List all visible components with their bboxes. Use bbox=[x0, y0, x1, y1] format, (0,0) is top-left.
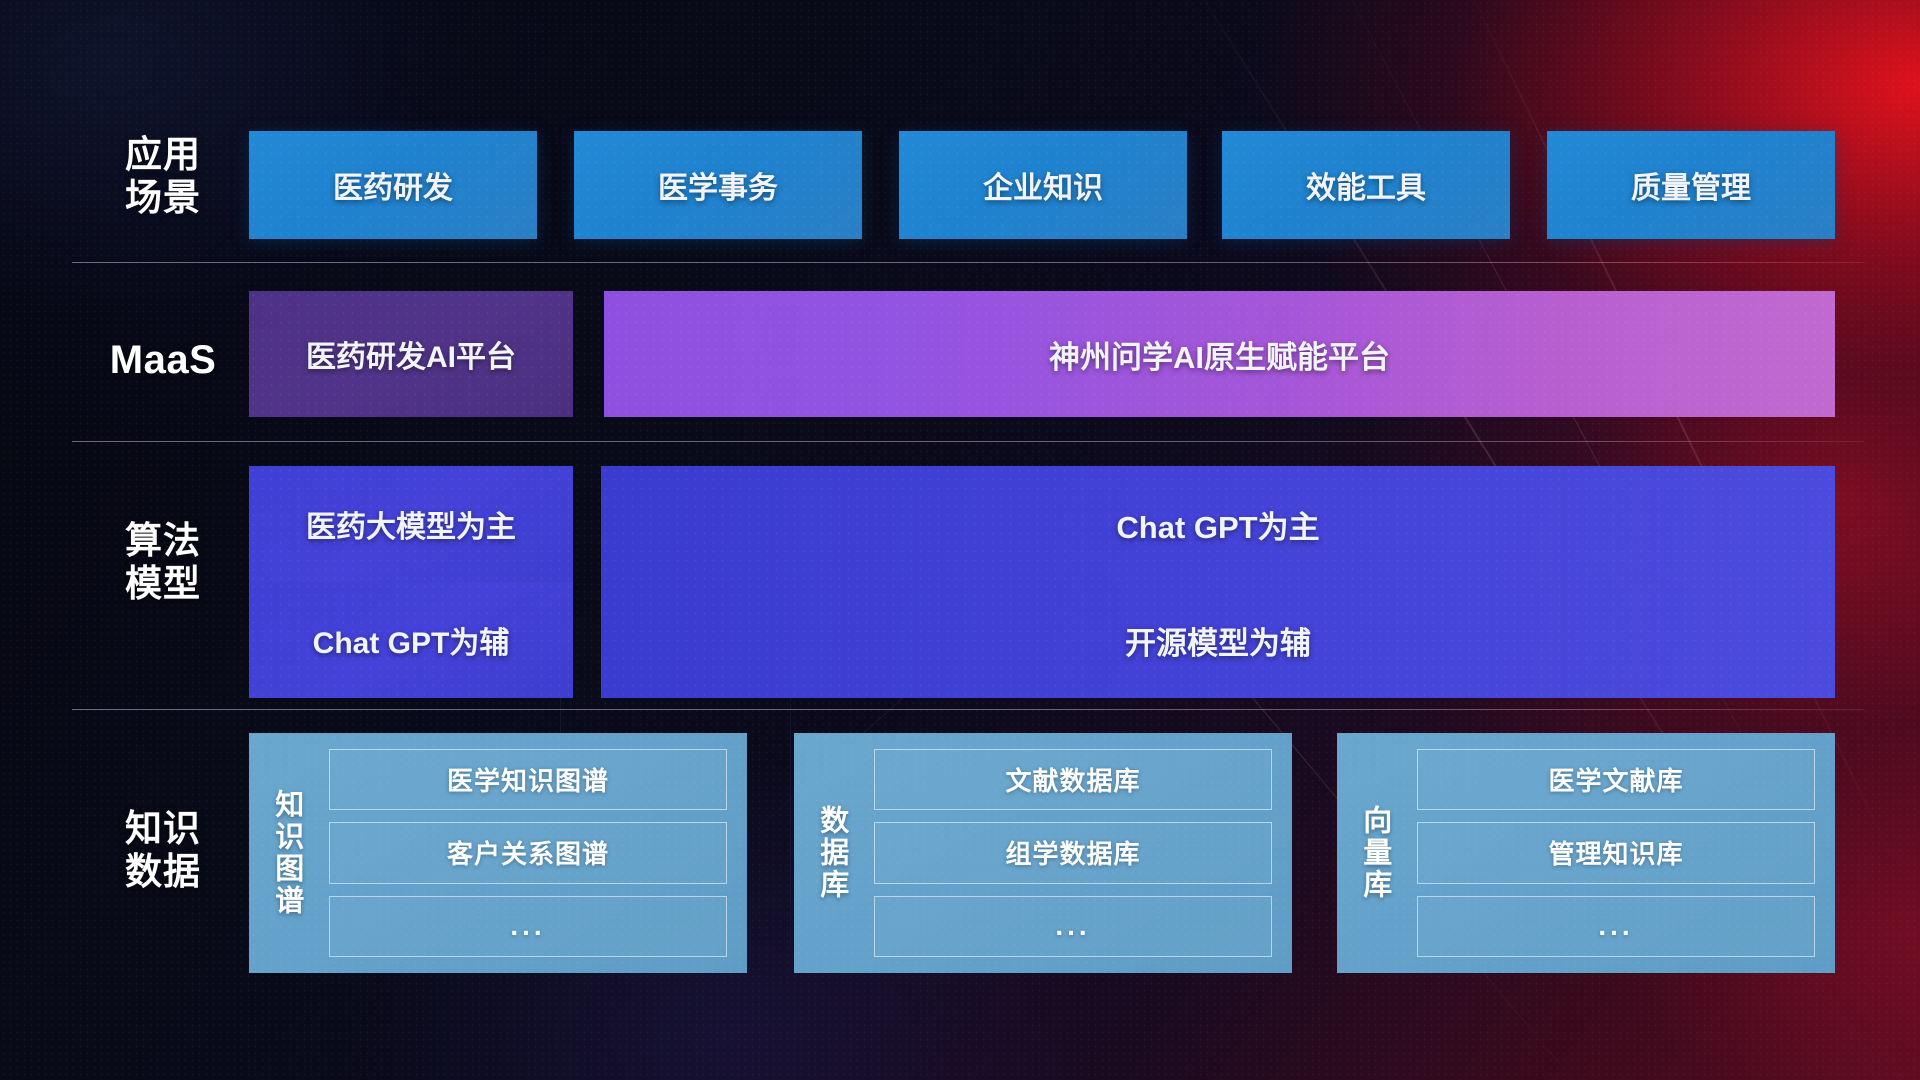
algorithm-box-opensource-secondary-label: 开源模型为辅 bbox=[1125, 618, 1311, 663]
row-label-kd-line-1: 知识 bbox=[78, 808, 248, 851]
knowledge-group-1-title: 知识图谱 bbox=[249, 733, 323, 973]
row-label-line-1: 应用 bbox=[78, 134, 248, 177]
knowledge-group-1-item-2[interactable]: 客户关系图谱 bbox=[329, 822, 727, 883]
maas-box-shenzhou-platform[interactable]: 神州问学AI原生赋能平台 bbox=[604, 291, 1835, 417]
row-separator-1 bbox=[72, 262, 1864, 263]
knowledge-group-1-item-3[interactable]: ... bbox=[329, 896, 727, 957]
row-label-line-2: 场景 bbox=[78, 177, 248, 220]
app-box-3-label: 企业知识 bbox=[983, 163, 1103, 207]
algorithm-box-chatgpt-primary[interactable]: Chat GPT为主 bbox=[601, 466, 1835, 582]
row-separator-3 bbox=[72, 709, 1864, 710]
knowledge-group-1-items: 医学知识图谱 客户关系图谱 ... bbox=[323, 733, 747, 973]
algorithm-box-medical-primary-label: 医药大模型为主 bbox=[306, 502, 516, 546]
app-box-1[interactable]: 医药研发 bbox=[249, 131, 537, 239]
knowledge-group-database[interactable]: 数据库 文献数据库 组学数据库 ... bbox=[794, 733, 1292, 973]
algorithm-box-chatgpt-primary-label: Chat GPT为主 bbox=[1116, 502, 1319, 547]
knowledge-group-2-item-1[interactable]: 文献数据库 bbox=[874, 749, 1272, 810]
knowledge-group-3-title: 向量库 bbox=[1337, 733, 1411, 973]
knowledge-group-3-items: 医学文献库 管理知识库 ... bbox=[1411, 733, 1835, 973]
app-box-5[interactable]: 质量管理 bbox=[1547, 131, 1835, 239]
row-label-alg-line-2: 模型 bbox=[78, 563, 248, 606]
app-box-5-label: 质量管理 bbox=[1631, 163, 1751, 207]
row-label-maas: MaaS bbox=[78, 337, 248, 383]
algorithm-box-opensource-secondary[interactable]: 开源模型为辅 bbox=[601, 582, 1835, 698]
app-box-2-label: 医学事务 bbox=[658, 163, 778, 207]
row-label-alg-line-1: 算法 bbox=[78, 520, 248, 563]
app-box-2[interactable]: 医学事务 bbox=[574, 131, 862, 239]
knowledge-group-2-item-2[interactable]: 组学数据库 bbox=[874, 822, 1272, 883]
knowledge-group-2-title: 数据库 bbox=[794, 733, 868, 973]
architecture-diagram: 应用 场景 医药研发 医学事务 企业知识 效能工具 质量管理 MaaS 医药研发… bbox=[0, 0, 1920, 1080]
knowledge-group-vector-store[interactable]: 向量库 医学文献库 管理知识库 ... bbox=[1337, 733, 1835, 973]
row-label-kd-line-2: 数据 bbox=[78, 851, 248, 894]
algorithm-box-chatgpt-secondary[interactable]: Chat GPT为辅 bbox=[249, 582, 573, 698]
row-label-knowledge-data: 知识 数据 bbox=[78, 808, 248, 894]
row-separator-2 bbox=[72, 441, 1864, 442]
knowledge-group-3-item-2[interactable]: 管理知识库 bbox=[1417, 822, 1815, 883]
app-box-4[interactable]: 效能工具 bbox=[1222, 131, 1510, 239]
app-box-1-label: 医药研发 bbox=[333, 163, 453, 207]
knowledge-group-3-item-3[interactable]: ... bbox=[1417, 896, 1815, 957]
knowledge-group-1-item-1[interactable]: 医学知识图谱 bbox=[329, 749, 727, 810]
maas-box-shenzhou-platform-label: 神州问学AI原生赋能平台 bbox=[1049, 332, 1390, 377]
knowledge-group-knowledge-graph[interactable]: 知识图谱 医学知识图谱 客户关系图谱 ... bbox=[249, 733, 747, 973]
maas-box-medical-ai-platform[interactable]: 医药研发AI平台 bbox=[249, 291, 573, 417]
knowledge-group-2-item-3[interactable]: ... bbox=[874, 896, 1272, 957]
row-label-maas-text: MaaS bbox=[78, 337, 248, 383]
algorithm-box-medical-primary[interactable]: 医药大模型为主 bbox=[249, 466, 573, 582]
row-label-application-scenarios: 应用 场景 bbox=[78, 134, 248, 220]
algorithm-box-chatgpt-secondary-label: Chat GPT为辅 bbox=[313, 618, 510, 662]
row-label-algorithm-models: 算法 模型 bbox=[78, 520, 248, 606]
knowledge-group-2-items: 文献数据库 组学数据库 ... bbox=[868, 733, 1292, 973]
maas-box-medical-ai-platform-label: 医药研发AI平台 bbox=[306, 332, 516, 376]
slide-canvas: 应用 场景 医药研发 医学事务 企业知识 效能工具 质量管理 MaaS 医药研发… bbox=[0, 0, 1920, 1080]
knowledge-group-3-item-1[interactable]: 医学文献库 bbox=[1417, 749, 1815, 810]
app-box-3[interactable]: 企业知识 bbox=[899, 131, 1187, 239]
app-box-4-label: 效能工具 bbox=[1306, 163, 1426, 207]
